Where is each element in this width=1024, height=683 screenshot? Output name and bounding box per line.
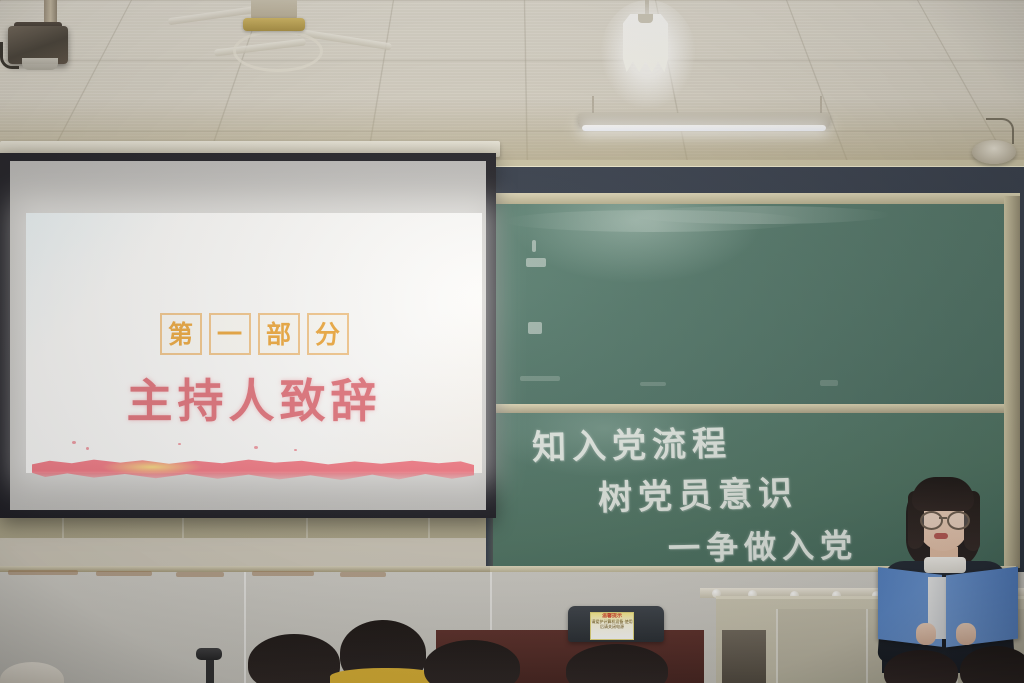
brush-fleck bbox=[294, 449, 297, 451]
part-box-char: 一 bbox=[209, 313, 251, 355]
tube-lamp bbox=[582, 125, 826, 131]
blackboard-upper-panel[interactable] bbox=[490, 204, 1012, 404]
glasses-bridge bbox=[939, 517, 947, 519]
blackboard-middle-frame bbox=[490, 404, 1012, 413]
slide-part-label: 第 一 部 分 bbox=[26, 313, 482, 355]
chalk-smudge bbox=[640, 382, 666, 386]
chalk-wipe bbox=[630, 206, 890, 224]
screen-surface: 第 一 部 分 主持人致辞 bbox=[10, 161, 486, 510]
classroom-scene: 知入党流程 树党员意识 一争做入党 第 一 部 分 主持人致辞 bbox=[0, 0, 1024, 683]
glasses-icon bbox=[947, 511, 970, 530]
fan-blade-ring bbox=[233, 30, 323, 72]
brush-fleck bbox=[254, 446, 258, 449]
part-box-char: 第 bbox=[160, 313, 202, 355]
brush-fleck bbox=[86, 447, 89, 450]
student-presenter bbox=[872, 473, 1024, 673]
projector-cable bbox=[0, 42, 19, 69]
blackboard-line-1: 知入党流程 bbox=[532, 416, 733, 469]
speaker-dome-icon bbox=[972, 140, 1016, 164]
blackboard-line-3: 一争做入党 bbox=[668, 520, 859, 569]
chalk-smudge bbox=[520, 376, 560, 381]
glasses-icon bbox=[920, 511, 943, 530]
presenter-mouth bbox=[934, 533, 948, 539]
chalk-smudge bbox=[526, 258, 546, 267]
slide-title: 主持人致辞 bbox=[26, 365, 482, 431]
wall-seam bbox=[244, 572, 246, 683]
presenter-left-hand bbox=[916, 623, 936, 645]
fan-hub bbox=[243, 18, 305, 31]
brush-fleck bbox=[178, 443, 181, 445]
projected-slide: 第 一 部 分 主持人致辞 bbox=[26, 213, 482, 473]
lamp-cap bbox=[638, 14, 653, 23]
chalk-smudge bbox=[532, 240, 536, 252]
cabinet-door[interactable] bbox=[776, 609, 868, 683]
part-box-char: 分 bbox=[307, 313, 349, 355]
brush-fleck bbox=[72, 441, 76, 444]
part-box-char: 部 bbox=[258, 313, 300, 355]
projector-lens-icon bbox=[22, 58, 58, 70]
wall-scuff bbox=[96, 571, 152, 576]
wall-scuff bbox=[8, 570, 78, 575]
monitor-notice-sticker: 温馨提示 请爱护计算机设备 使用后请关闭电源 bbox=[590, 612, 634, 640]
wall-scuff bbox=[176, 572, 224, 577]
wall-scuff bbox=[252, 571, 314, 576]
wall-scuff bbox=[340, 572, 386, 577]
camera-tripod-head bbox=[196, 648, 222, 660]
blackboard-line-2: 树党员意识 bbox=[597, 465, 798, 519]
monitor-notice-body: 请爱护计算机设备 使用后请关闭电源 bbox=[591, 619, 633, 629]
presenter-right-hand bbox=[956, 623, 976, 645]
projection-screen[interactable]: 第 一 部 分 主持人致辞 bbox=[0, 153, 496, 518]
chalk-smudge bbox=[820, 380, 838, 386]
blackboard-top-frame bbox=[490, 193, 1020, 204]
chalk-smudge bbox=[528, 322, 542, 334]
cabinet-open-recess bbox=[722, 630, 766, 683]
presenter-hair-top bbox=[912, 477, 974, 511]
presenter-shirt-collar bbox=[924, 557, 966, 573]
audience-head-1 bbox=[248, 634, 340, 683]
